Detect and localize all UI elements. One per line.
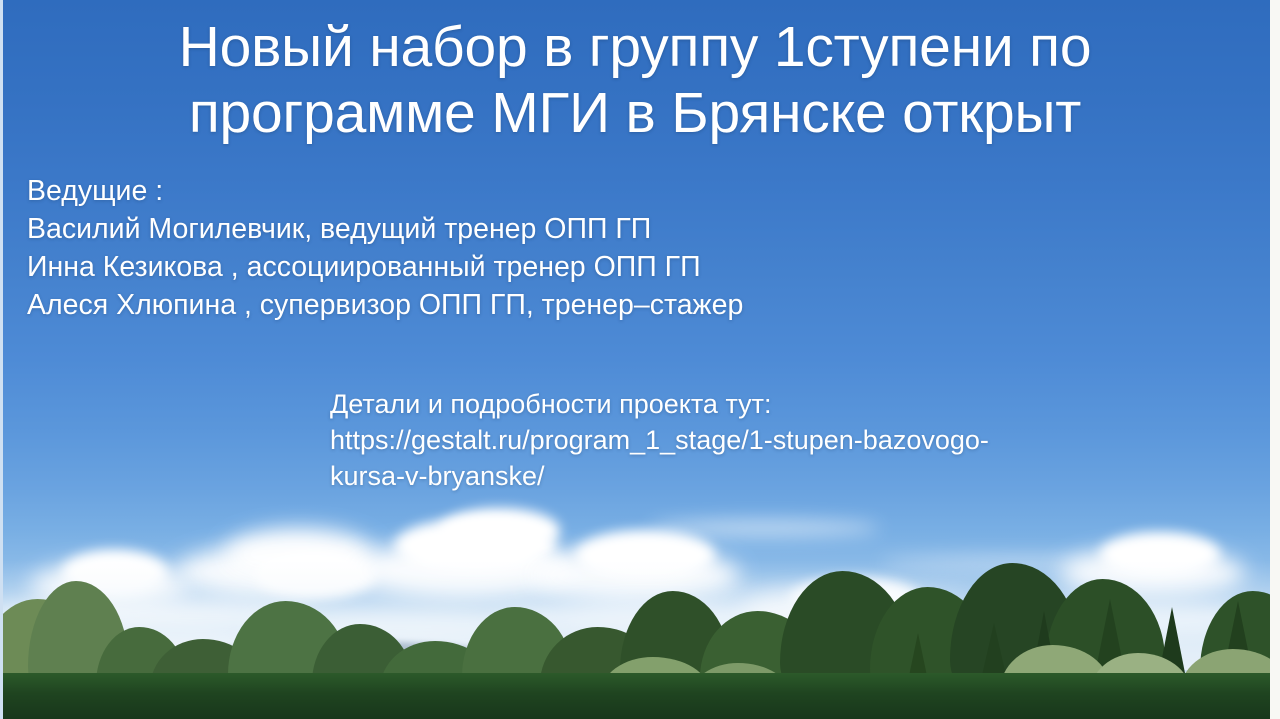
presenter-item-3: Алеся Хлюпина , супервизор ОПП ГП, трене… bbox=[27, 286, 743, 324]
presenter-item-1: Василий Могилевчик, ведущий тренер ОПП Г… bbox=[27, 210, 743, 248]
slide-title-line-1: Новый набор в группу 1ступени по bbox=[60, 14, 1210, 80]
details-label: Детали и подробности проекта тут: bbox=[330, 386, 989, 422]
details-url-line-2[interactable]: kursa-v-bryanske/ bbox=[330, 458, 989, 494]
treeline bbox=[0, 544, 1280, 719]
presenter-item-2: Инна Кезикова , ассоциированный тренер О… bbox=[27, 248, 743, 286]
slide-title: Новый набор в группу 1ступени по програм… bbox=[0, 14, 1270, 146]
presentation-slide: Новый набор в группу 1ступени по програм… bbox=[0, 0, 1280, 719]
details-url-line-1[interactable]: https://gestalt.ru/program_1_stage/1-stu… bbox=[330, 422, 989, 458]
right-edge-stripe bbox=[1270, 0, 1280, 719]
details-block: Детали и подробности проекта тут: https:… bbox=[330, 386, 989, 494]
presenters-block: Ведущие : Василий Могилевчик, ведущий тр… bbox=[27, 172, 743, 324]
presenters-heading: Ведущие : bbox=[27, 172, 743, 210]
slide-title-line-2: программе МГИ в Брянске открыт bbox=[60, 80, 1210, 146]
forest-ground-band bbox=[0, 673, 1280, 719]
